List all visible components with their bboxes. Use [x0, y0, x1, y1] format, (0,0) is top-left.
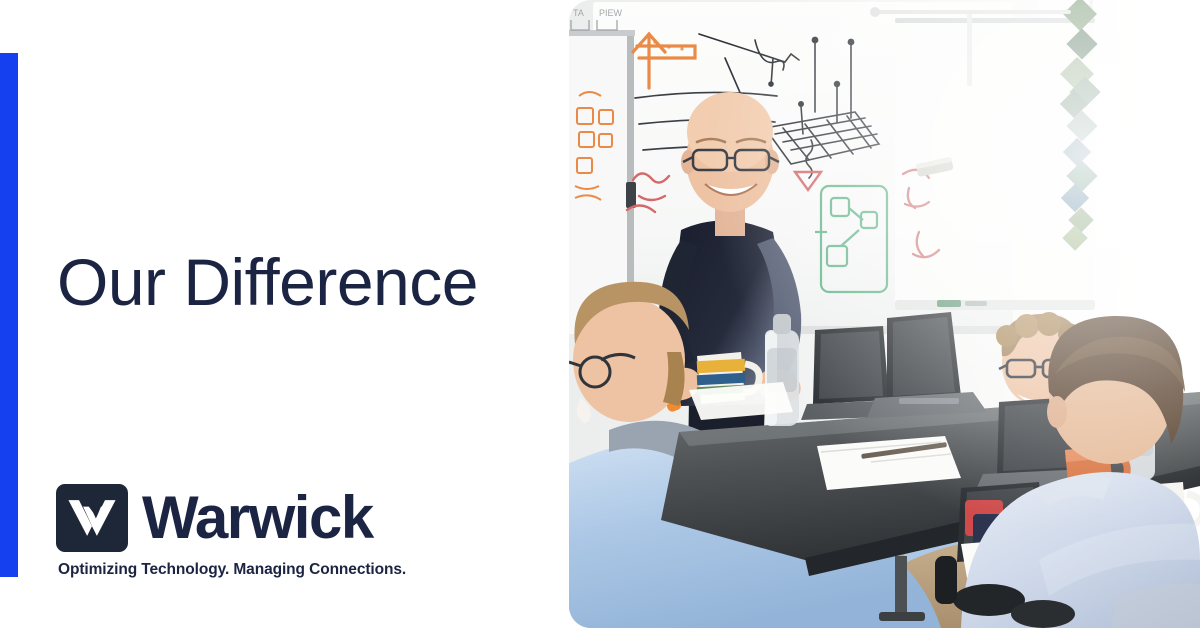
brand-logo-lockup: Warwick Optimizing Technology. Managing … — [56, 484, 406, 579]
logo-row: Warwick — [56, 484, 373, 552]
page-title: Our Difference — [57, 248, 478, 317]
logo-wordmark: Warwick — [142, 488, 373, 548]
left-content-panel: Our Difference Warwick Optimizin — [0, 0, 570, 628]
warwick-w-monogram-icon — [56, 484, 128, 552]
logo-tagline: Optimizing Technology. Managing Connecti… — [58, 561, 406, 579]
marketing-banner: Our Difference Warwick Optimizin — [0, 0, 1200, 628]
meeting-photo: TA PIEW — [569, 0, 1200, 628]
